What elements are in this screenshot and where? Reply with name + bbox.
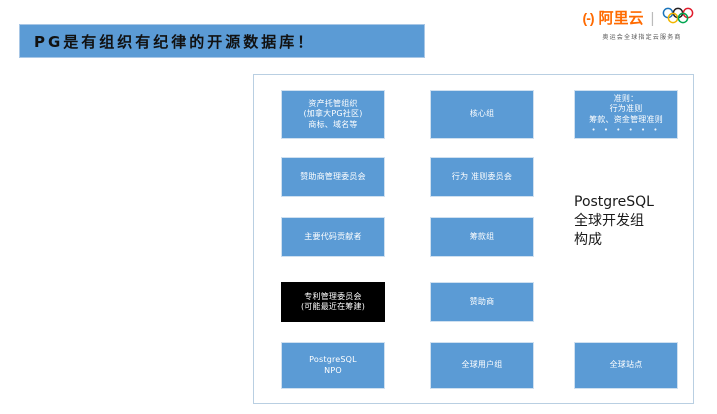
- diagram-caption: PostgreSQL 全球开发组 构成: [574, 193, 692, 250]
- node-line: 专利管理委员会: [304, 292, 361, 302]
- node-line: 行为 准则委员会: [452, 172, 512, 182]
- caption-line: 全球开发组: [574, 212, 692, 231]
- node-code-of-conduct-committee: 行为 准则委员会: [430, 157, 534, 197]
- aliyun-mark-icon: (-): [583, 11, 594, 25]
- node-fundraising-group: 筹款组: [430, 217, 534, 257]
- node-global-user-groups: 全球用户组: [430, 342, 534, 389]
- node-line: PostgreSQL: [309, 355, 357, 365]
- node-line: 准则：: [614, 94, 639, 104]
- node-sponsors: 赞助商: [430, 282, 534, 322]
- node-line: 行为准则: [610, 104, 643, 114]
- node-asset-trustee-org: 资产托管组织 (加拿大PG社区) 商标、域名等: [281, 90, 385, 139]
- org-structure-diagram: 资产托管组织 (加拿大PG社区) 商标、域名等 赞助商管理委员会 主要代码贡献者…: [253, 74, 694, 404]
- node-guidelines: 准则： 行为准则 筹款、资金管理准则 • • • • • •: [574, 90, 678, 139]
- brand-logo: (-) 阿里云 | 奥运会全球指定云服务商: [577, 8, 707, 41]
- node-line: 全球用户组: [462, 360, 503, 370]
- node-global-sites: 全球站点: [574, 342, 678, 389]
- node-line: (加拿大PG社区): [303, 109, 362, 119]
- caption-line: 构成: [574, 231, 692, 250]
- node-line: 赞助商: [470, 297, 495, 307]
- node-line: 赞助商管理委员会: [300, 172, 366, 182]
- node-line: 主要代码贡献者: [304, 232, 361, 242]
- brand-logo-row: (-) 阿里云 |: [577, 8, 707, 28]
- node-main-code-contributors: 主要代码贡献者: [281, 217, 385, 257]
- node-core-group: 核心组: [430, 90, 534, 139]
- node-line: 全球站点: [610, 360, 643, 370]
- node-line: (可能最近在筹建): [301, 302, 365, 312]
- brand-tagline: 奥运会全球指定云服务商: [577, 32, 707, 41]
- node-line: 筹款组: [470, 232, 495, 242]
- page-title: PG是有组织有纪律的开源数据库！: [20, 31, 315, 52]
- node-line: 核心组: [470, 109, 495, 119]
- node-line: 商标、域名等: [308, 120, 357, 130]
- caption-line: PostgreSQL: [574, 193, 692, 212]
- node-postgresql-npo: PostgreSQL NPO: [281, 342, 385, 389]
- brand-divider: |: [651, 11, 655, 26]
- node-line: NPO: [324, 366, 342, 376]
- olympic-rings-icon: [661, 7, 701, 29]
- node-patent-management-committee: 专利管理委员会 (可能最近在筹建): [281, 282, 385, 322]
- node-line: 筹款、资金管理准则: [589, 115, 663, 125]
- node-ellipsis: • • • • • •: [592, 126, 661, 135]
- slide-title-banner: PG是有组织有纪律的开源数据库！: [19, 24, 425, 58]
- node-sponsor-management-committee: 赞助商管理委员会: [281, 157, 385, 197]
- aliyun-wordmark: 阿里云: [599, 11, 644, 26]
- node-line: 资产托管组织: [308, 99, 357, 109]
